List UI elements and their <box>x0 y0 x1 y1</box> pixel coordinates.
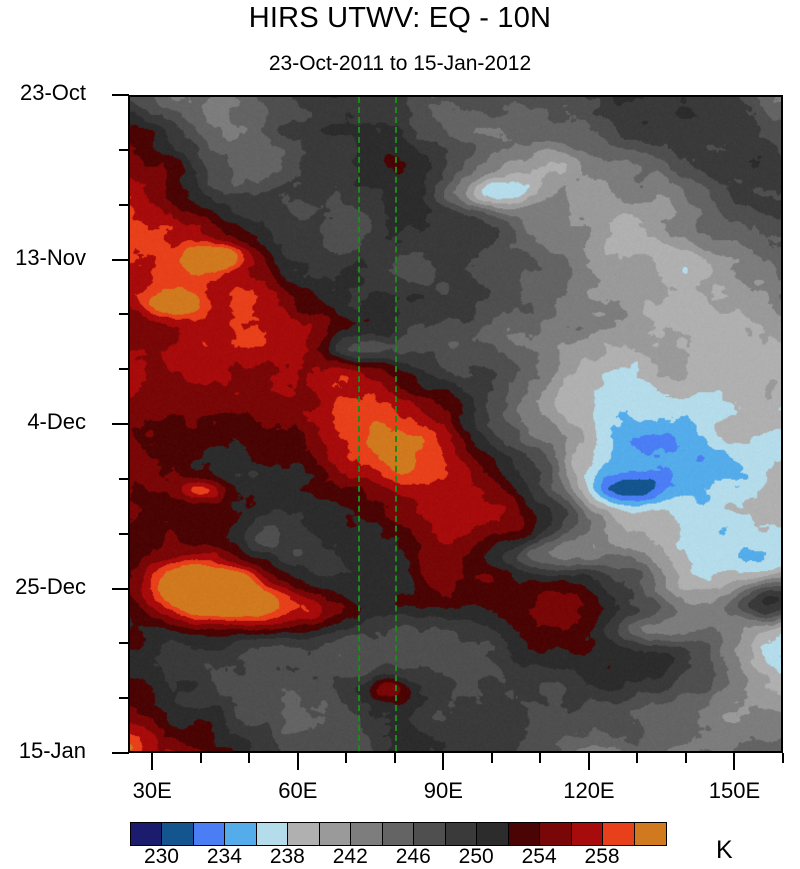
y-tick-minor <box>119 478 129 480</box>
y-tick-minor <box>119 149 129 151</box>
hovmoller-figure: HIRS UTWV: EQ - 10N 23-Oct-2011 to 15-Ja… <box>0 0 800 864</box>
colorbar-tick-label: 258 <box>585 845 620 869</box>
plot-area <box>128 95 783 753</box>
colorbar-swatch <box>477 823 508 845</box>
colorbar-tick-label: 254 <box>522 845 557 869</box>
page-title: HIRS UTWV: EQ - 10N <box>0 2 800 35</box>
y-tick-label: 25-Dec <box>15 574 86 600</box>
green-dashed-line-west <box>358 97 360 751</box>
colorbar-swatch <box>414 823 445 845</box>
x-tick-major <box>442 753 444 770</box>
x-tick-minor <box>200 753 202 763</box>
colorbar-swatch <box>257 823 288 845</box>
x-tick-minor <box>394 753 396 763</box>
colorbar-tick-label: 230 <box>144 845 179 869</box>
y-tick-major <box>112 423 129 425</box>
colorbar <box>130 822 667 846</box>
x-tick-label: 90E <box>424 778 463 804</box>
colorbar-swatch <box>446 823 477 845</box>
colorbar-swatch <box>603 823 634 845</box>
x-tick-minor <box>636 753 638 763</box>
x-tick-major <box>733 753 735 770</box>
x-tick-label: 60E <box>278 778 317 804</box>
green-dashed-line-east <box>395 97 397 751</box>
y-tick-minor <box>119 697 129 699</box>
x-tick-major <box>588 753 590 770</box>
y-tick-major <box>112 752 129 754</box>
colorbar-tick-label: 246 <box>396 845 431 869</box>
y-tick-label: 4-Dec <box>27 409 86 435</box>
colorbar-swatch <box>572 823 603 845</box>
colorbar-swatch <box>162 823 193 845</box>
contour-canvas <box>130 97 781 751</box>
y-tick-minor <box>119 533 129 535</box>
x-tick-minor <box>782 753 784 763</box>
colorbar-swatch <box>288 823 319 845</box>
figure-subtitle: 23-Oct-2011 to 15-Jan-2012 <box>0 52 800 76</box>
colorbar-tick-label: 250 <box>459 845 494 869</box>
x-tick-label: 120E <box>563 778 614 804</box>
y-tick-minor <box>119 204 129 206</box>
colorbar-tick-label: 234 <box>207 845 242 869</box>
colorbar-swatch <box>131 823 162 845</box>
colorbar-tick-label: 242 <box>333 845 368 869</box>
y-tick-minor <box>119 642 129 644</box>
colorbar-swatch <box>509 823 540 845</box>
colorbar-unit-label: K <box>716 836 733 865</box>
colorbar-swatch <box>194 823 225 845</box>
y-tick-minor <box>119 313 129 315</box>
x-tick-label: 150E <box>709 778 760 804</box>
colorbar-swatch <box>383 823 414 845</box>
colorbar-tick-label: 238 <box>270 845 305 869</box>
x-tick-major <box>151 753 153 770</box>
x-tick-major <box>297 753 299 770</box>
colorbar-swatch <box>635 823 666 845</box>
colorbar-swatch <box>320 823 351 845</box>
x-tick-minor <box>685 753 687 763</box>
y-tick-label: 23-Oct <box>20 80 86 106</box>
y-tick-minor <box>119 368 129 370</box>
colorbar-swatch <box>351 823 382 845</box>
y-tick-major <box>112 94 129 96</box>
y-tick-major <box>112 259 129 261</box>
contour-field <box>130 97 781 751</box>
y-tick-label: 13-Nov <box>15 245 86 271</box>
x-tick-minor <box>345 753 347 763</box>
x-tick-label: 30E <box>133 778 172 804</box>
colorbar-swatch <box>225 823 256 845</box>
x-tick-minor <box>539 753 541 763</box>
y-tick-major <box>112 588 129 590</box>
colorbar-swatch <box>540 823 571 845</box>
y-tick-label: 15-Jan <box>19 738 86 764</box>
x-tick-minor <box>248 753 250 763</box>
x-tick-minor <box>491 753 493 763</box>
